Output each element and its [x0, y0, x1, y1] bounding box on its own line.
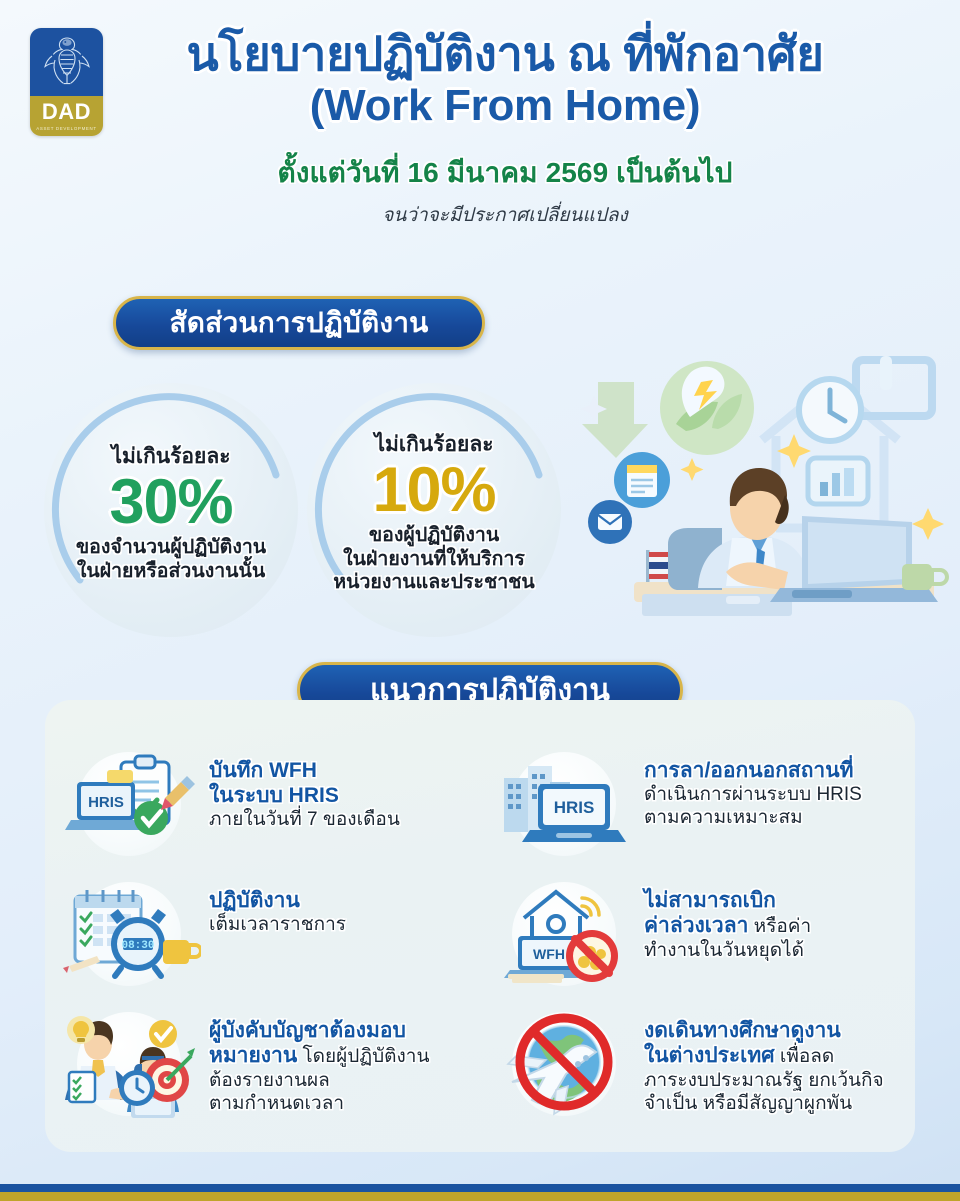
guideline-2-normal-1: ดำเนินการผ่านระบบ HRIS — [644, 783, 862, 806]
ratio-desc-line-2: ในฝ่ายหรือส่วนงานนั้น — [77, 560, 265, 583]
guideline-item-3: 08:30 ปฏิบัติงาน เต็มเวลาราชการ — [45, 882, 480, 1012]
ratio-desc-line-1: ของจำนวนผู้ปฏิบัติงาน — [76, 536, 266, 559]
guideline-3-bold-1: ปฏิบัติงาน — [209, 888, 346, 913]
logo-subtext: ASSET DEVELOPMENT — [36, 126, 97, 131]
wfh-no-money-icon: WFH — [494, 878, 636, 990]
guideline-item-1: HRIS บันทึก WFH ในระบบ HRIS ภายในวันที่ … — [45, 752, 480, 882]
guideline-6-normal-1: ภาระงบประมาณรัฐ ยกเว้นกิจ — [644, 1069, 884, 1092]
effective-date: ตั้งแต่วันที่ 16 มีนาคม 2569 เป็นต้นไป — [110, 151, 900, 195]
garuda-emblem — [30, 28, 103, 96]
ratio-lead: ไม่เกินร้อยละ — [375, 433, 494, 456]
guideline-6-mixed-bold: ในต่างประเทศ — [644, 1044, 775, 1067]
ratio-value: 30% — [109, 471, 232, 534]
guideline-6-mixed-normal: เพื่อลด — [775, 1046, 835, 1067]
guideline-item-4: WFH ไม่สามารถเบิก ค่าล่วงเวลา หรือค่า ทำ… — [480, 882, 915, 1012]
page-header: นโยบายปฏิบัติงาน ณ ที่พักอาศัย (Work Fro… — [110, 30, 900, 230]
guideline-6-bold-1: งดเดินทางศึกษาดูงาน — [644, 1018, 884, 1043]
ratio-desc-line-2: ในฝ่ายงานที่ให้บริการ — [343, 548, 525, 571]
chart-icon — [808, 458, 868, 504]
logo-wordmark: DAD ASSET DEVELOPMENT — [30, 96, 103, 136]
ratio-value: 10% — [372, 459, 495, 522]
footer-bar-gold — [0, 1192, 960, 1201]
lightbulb-icon — [67, 1016, 95, 1044]
guideline-item-2: HRIS การลา/ออกนอกสถานที่ ดำเนินการผ่านระ… — [480, 752, 915, 882]
guideline-5-mixed: หมายงาน โดยผู้ปฏิบัติงาน — [209, 1043, 429, 1069]
no-overseas-travel-icon — [494, 1008, 636, 1120]
guidelines-grid: HRIS บันทึก WFH ในระบบ HRIS ภายในวันที่ … — [45, 700, 915, 1152]
svg-text:HRIS: HRIS — [554, 798, 595, 817]
hris-building-laptop-icon: HRIS — [494, 748, 636, 860]
guideline-1-bold-2: ในระบบ HRIS — [209, 783, 400, 808]
guideline-1-bold-1: บันทึก WFH — [209, 758, 400, 783]
ratio-desc-line-3: หน่วยงานและประชาชน — [333, 571, 534, 594]
guideline-5-mixed-normal: โดยผู้ปฏิบัติงาน — [297, 1046, 429, 1067]
document-icon — [614, 452, 670, 508]
ratio-card-body: ไม่เกินร้อยละ 30% ของจำนวนผู้ปฏิบัติงาน … — [44, 383, 298, 637]
guideline-2-bold-1: การลา/ออกนอกสถานที่ — [644, 758, 862, 783]
guideline-5-normal-2: ตามกำหนดเวลา — [209, 1092, 429, 1115]
mail-icon — [588, 500, 632, 544]
coffee-mug-icon — [163, 940, 201, 964]
svg-text:HRIS: HRIS — [88, 794, 124, 811]
guideline-4-mixed-normal: หรือค่า — [748, 916, 811, 937]
supervisor-assign-task-icon — [59, 1008, 201, 1120]
guideline-2-normal-2: ตามความเหมาะสม — [644, 806, 862, 829]
ratio-card-body: ไม่เกินร้อยละ 10% ของผู้ปฏิบัติงาน ในฝ่า… — [307, 383, 561, 637]
guideline-5-bold-1: ผู้บังคับบัญชาต้องมอบ — [209, 1018, 429, 1043]
svg-text:WFH: WFH — [533, 946, 565, 962]
guideline-item-5: ผู้บังคับบัญชาต้องมอบ หมายงาน โดยผู้ปฏิบ… — [45, 1012, 480, 1157]
coffee-mug-icon — [902, 564, 947, 590]
guideline-5-normal-1: ต้องรายงานผล — [209, 1069, 429, 1092]
guideline-text-2: การลา/ออกนอกสถานที่ ดำเนินการผ่านระบบ HR… — [644, 752, 862, 830]
page-title-line-2: (Work From Home) — [110, 83, 900, 129]
guideline-text-6: งดเดินทางศึกษาดูงาน ในต่างประเทศ เพื่อลด… — [644, 1012, 884, 1115]
clock-icon — [799, 379, 861, 441]
logo-text: DAD — [42, 101, 91, 123]
hris-clipboard-check-icon: HRIS — [59, 748, 201, 860]
energy-leaf-icon — [660, 361, 754, 455]
work-from-home-illustration — [580, 332, 952, 632]
guideline-text-3: ปฏิบัติงาน เต็มเวลาราชการ — [209, 882, 346, 936]
guideline-item-6: งดเดินทางศึกษาดูงาน ในต่างประเทศ เพื่อลด… — [480, 1012, 915, 1157]
ratio-desc-line-1: ของผู้ปฏิบัติงาน — [369, 524, 499, 547]
dad-logo: DAD ASSET DEVELOPMENT — [30, 28, 103, 136]
clock-icon — [119, 1070, 155, 1106]
garuda-icon — [41, 33, 93, 91]
ratio-card-30: ไม่เกินร้อยละ 30% ของจำนวนผู้ปฏิบัติงาน … — [44, 383, 298, 637]
guideline-4-mixed-bold: ค่าล่วงเวลา — [644, 914, 748, 937]
page-title-line-1: นโยบายปฏิบัติงาน ณ ที่พักอาศัย — [110, 30, 900, 79]
guideline-3-normal-1: เต็มเวลาราชการ — [209, 913, 346, 936]
guideline-text-5: ผู้บังคับบัญชาต้องมอบ หมายงาน โดยผู้ปฏิบ… — [209, 1012, 429, 1115]
guideline-text-4: ไม่สามารถเบิก ค่าล่วงเวลา หรือค่า ทำงานใ… — [644, 882, 811, 962]
check-badge-icon — [149, 1020, 177, 1048]
guideline-4-bold-1: ไม่สามารถเบิก — [644, 888, 811, 913]
calendar-alarm-clock-icon: 08:30 — [59, 878, 201, 990]
footer-bar-blue — [0, 1184, 960, 1192]
ratio-lead: ไม่เกินร้อยละ — [112, 445, 231, 468]
effective-date-note: จนว่าจะมีประกาศเปลี่ยนแปลง — [110, 200, 900, 230]
ratio-section-heading: สัดส่วนการปฏิบัติงาน — [113, 296, 485, 350]
guideline-text-1: บันทึก WFH ในระบบ HRIS ภายในวันที่ 7 ของ… — [209, 752, 400, 832]
down-arrow-icon — [582, 382, 648, 458]
guideline-1-normal-1: ภายในวันที่ 7 ของเดือน — [209, 808, 400, 831]
alarm-clock: 08:30 — [110, 909, 166, 976]
guideline-5-mixed-bold: หมายงาน — [209, 1044, 297, 1067]
ratio-card-10: ไม่เกินร้อยละ 10% ของผู้ปฏิบัติงาน ในฝ่า… — [307, 383, 561, 637]
no-money-sign — [566, 930, 618, 982]
svg-text:08:30: 08:30 — [121, 940, 154, 952]
guideline-4-mixed: ค่าล่วงเวลา หรือค่า — [644, 913, 811, 939]
guideline-4-normal-1: ทำงานในวันหยุดได้ — [644, 939, 811, 962]
guideline-6-normal-2: จำเป็น หรือมีสัญญาผูกพัน — [644, 1092, 884, 1115]
guideline-6-mixed: ในต่างประเทศ เพื่อลด — [644, 1043, 884, 1069]
ratio-heading-label: สัดส่วนการปฏิบัติงาน — [169, 301, 428, 345]
